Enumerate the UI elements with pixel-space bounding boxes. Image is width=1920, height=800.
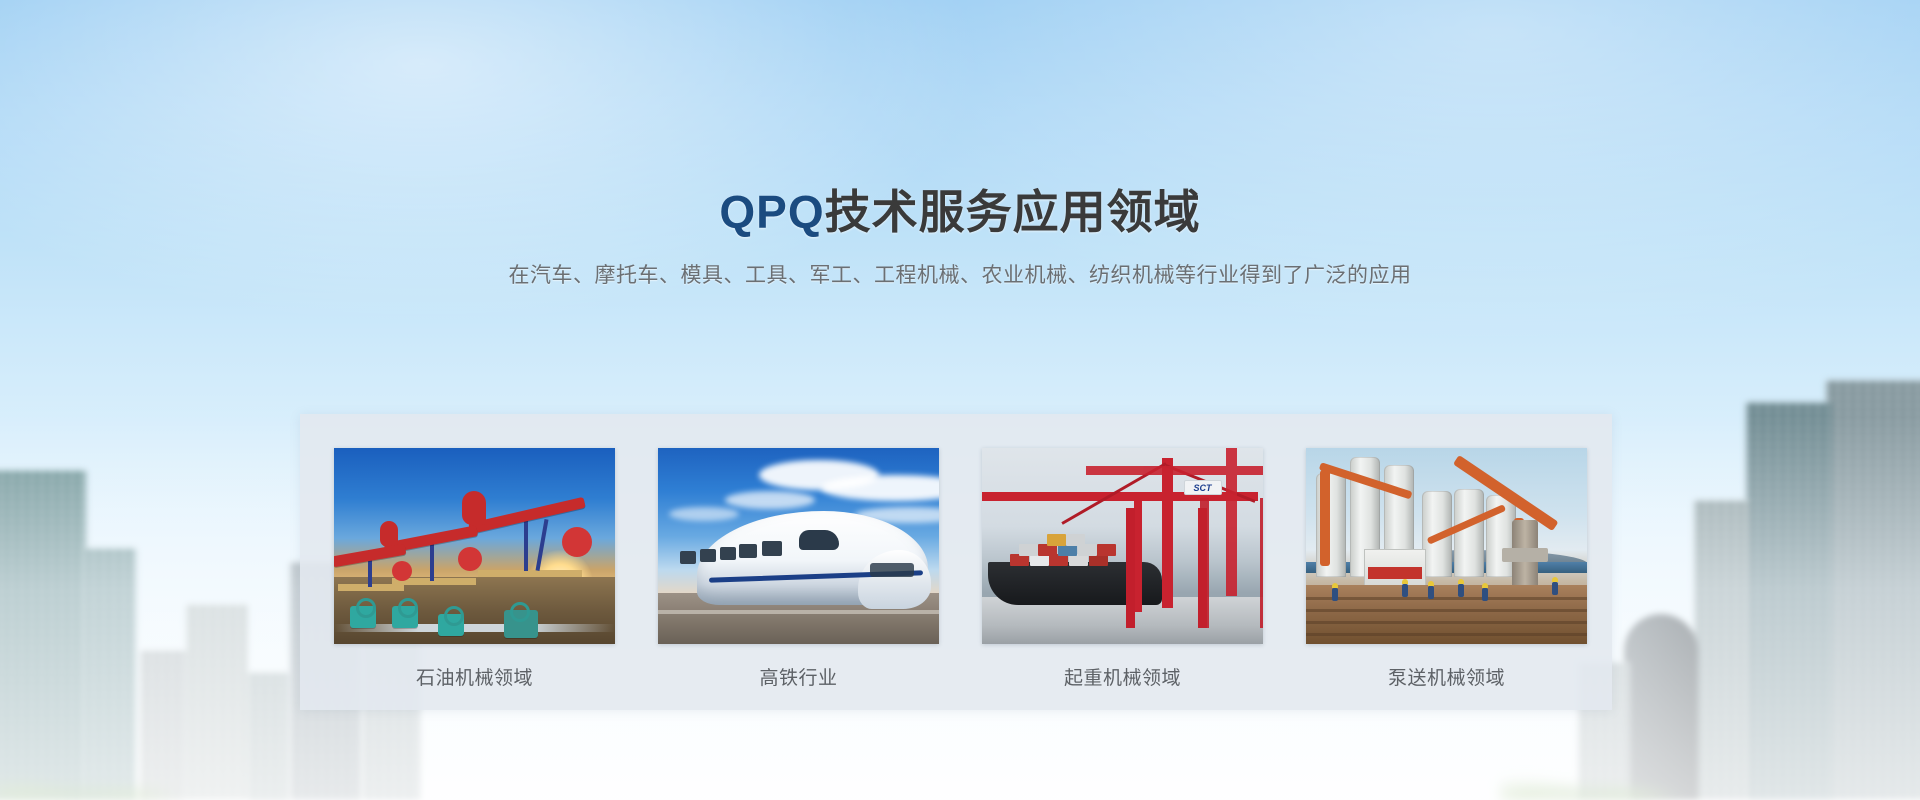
page-subtitle: 在汽车、摩托车、模具、工具、军工、工程机械、农业机械、纺织机械等行业得到了广泛的…	[0, 259, 1920, 289]
gantry-crane	[1156, 448, 1263, 628]
pumpjack-post	[536, 519, 549, 571]
pumpjack-counterweight	[562, 527, 592, 557]
oil-scene	[334, 448, 615, 644]
wellhead-valve	[350, 606, 376, 628]
page-title-rest: 技术服务应用领域	[825, 186, 1201, 238]
construction-worker	[1482, 588, 1488, 601]
container	[1019, 544, 1038, 556]
pumpjack-post	[430, 541, 434, 581]
card-high-speed-rail[interactable]: 高铁行业	[658, 448, 939, 690]
rebar-line	[1306, 597, 1587, 600]
crane-tower	[1134, 492, 1142, 612]
pumpjack	[334, 541, 414, 591]
pumpjack-counterweight	[458, 547, 482, 571]
train-window	[739, 544, 757, 558]
pumpjack-post	[524, 515, 528, 571]
card-caption: 泵送机械领域	[1306, 663, 1587, 690]
card-lifting-machinery[interactable]: SCT 起重机械领域	[982, 448, 1263, 690]
crane-leg	[1260, 498, 1263, 628]
wellhead-valve	[504, 610, 538, 638]
rebar-line	[1306, 621, 1587, 624]
crane-leg	[1126, 508, 1135, 628]
page-title: QPQ技术服务应用领域	[0, 186, 1920, 239]
card-caption: 高铁行业	[658, 663, 939, 690]
pumpjack-counterweight	[392, 561, 412, 581]
train-window	[680, 551, 696, 564]
container	[1047, 534, 1066, 546]
construction-worker	[1402, 584, 1408, 597]
pump-boom-arm	[1320, 470, 1330, 566]
rebar-line	[1306, 633, 1587, 636]
wellhead-valve	[438, 614, 464, 636]
train-window	[762, 541, 782, 556]
cloud	[725, 491, 815, 509]
crane-tower	[1226, 448, 1237, 596]
pumpjack-base	[478, 570, 582, 577]
cement-silo	[1454, 489, 1484, 577]
crane-leg	[1200, 498, 1209, 628]
card-oil-machinery[interactable]: 石油机械领域	[334, 448, 615, 690]
cloud	[821, 475, 939, 501]
rebar-line	[1306, 609, 1587, 612]
construction-deck	[1306, 585, 1587, 644]
site-banner	[1368, 567, 1422, 579]
page-title-accent: QPQ	[719, 186, 824, 238]
oil-pumpjacks-sunset-photo[interactable]	[334, 448, 615, 644]
train-window	[720, 547, 736, 560]
card-caption: 石油机械领域	[334, 663, 615, 690]
construction-worker	[1552, 582, 1558, 595]
port-gantry-cranes-photo[interactable]: SCT	[982, 448, 1263, 644]
pumpjack-post	[368, 557, 372, 587]
high-speed-train-photo[interactable]	[658, 448, 939, 644]
hero-heading-block: QPQ技术服务应用领域 在汽车、摩托车、模具、工具、军工、工程机械、农业机械、纺…	[0, 186, 1920, 289]
port-scene: SCT	[982, 448, 1263, 644]
train-windshield	[799, 530, 839, 550]
card-pumping-machinery[interactable]: 泵送机械领域	[1306, 448, 1587, 690]
wellhead-valve	[392, 606, 418, 628]
snow-strip	[334, 624, 615, 632]
train-scene	[658, 448, 939, 644]
application-fields-panel: 石油机械领域	[300, 414, 1612, 710]
construction-worker	[1332, 588, 1338, 601]
construction-worker	[1428, 586, 1434, 599]
train-window	[700, 549, 716, 562]
card-caption: 起重机械领域	[982, 663, 1263, 690]
pump-scene	[1306, 448, 1587, 644]
concrete-pump-machinery-photo[interactable]	[1306, 448, 1587, 644]
construction-worker	[1458, 584, 1464, 597]
pump-platform	[1502, 548, 1548, 562]
train-headlight-panel	[870, 563, 914, 577]
cloud	[669, 507, 739, 521]
card-list: 石油机械领域	[334, 448, 1587, 690]
